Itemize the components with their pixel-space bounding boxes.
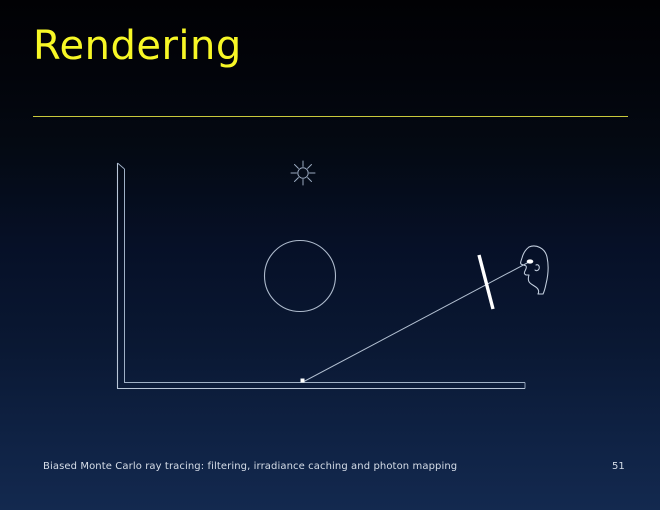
- floor: [117, 383, 525, 389]
- ray-tracing-diagram: [0, 0, 660, 510]
- slide: Rendering: [0, 0, 660, 510]
- sphere-object: [265, 241, 336, 312]
- sun-icon: [291, 161, 315, 185]
- observer-head-profile: [521, 246, 549, 294]
- footer-caption: Biased Monte Carlo ray tracing: filterin…: [43, 461, 457, 472]
- left-wall: [118, 163, 125, 389]
- ray-hit-point: [301, 379, 305, 383]
- view-ray: [303, 262, 529, 382]
- eye-highlight: [527, 259, 534, 263]
- page-number: 51: [612, 461, 625, 472]
